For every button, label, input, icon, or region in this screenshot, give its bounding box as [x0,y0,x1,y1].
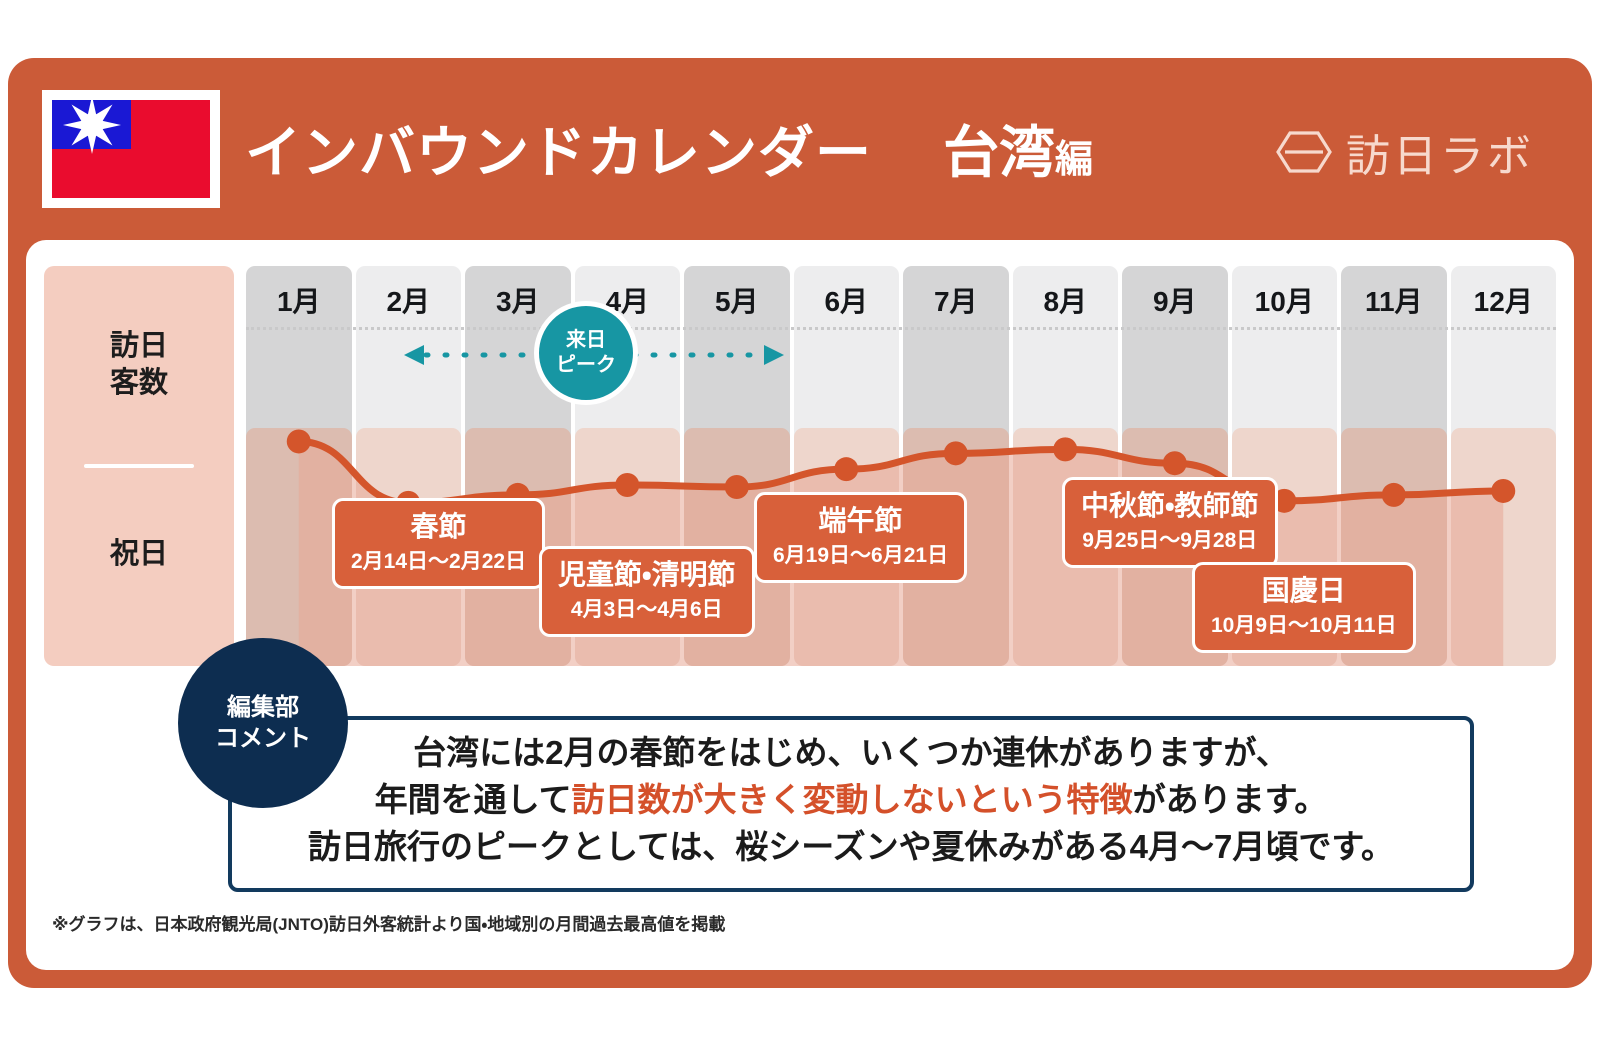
event-box-国慶日[interactable]: 国慶日 10月9日〜10月11日 [1192,562,1416,653]
peak-line2: ピーク [556,353,616,378]
month-label: 10月 [1232,280,1338,320]
month-column-12: 12月 [1451,266,1557,666]
event-box-児童節清明節[interactable]: 児童節・清明節 4月3日〜4月6日 [539,546,755,637]
editor-comment-text: 台湾には2月の春節をはじめ、いくつか連休がありますが、 年間を通して訪日数が大き… [236,730,1466,871]
comment-line-2: 年間を通して訪日数が大きく変動しないという特徴があります。 [236,777,1466,824]
event-date: 10月9日〜10月11日 [1211,613,1397,638]
brand-logo[interactable]: 訪日ラボ [1276,120,1534,184]
comment-line-1: 台湾には2月の春節をはじめ、いくつか連休がありますが、 [236,730,1466,777]
holiday-band [1451,428,1557,666]
axis-divider [84,464,194,468]
month-label: 12月 [1451,280,1557,320]
hexagon-logo-icon [1276,127,1332,177]
month-label: 9月 [1122,280,1228,320]
month-label: 11月 [1341,280,1447,320]
event-box-端午節[interactable]: 端午節 6月19日〜6月21日 [754,492,967,583]
month-label: 2月 [356,280,462,320]
event-box-春節[interactable]: 春節 2月14日〜2月22日 [332,498,545,589]
event-title: 国慶日 [1211,574,1397,608]
month-label: 7月 [903,280,1009,320]
month-column-8: 8月 [1013,266,1119,666]
editor-comment-badge: 編集部 コメント [178,638,348,808]
month-label: 1月 [246,280,352,320]
event-date: 6月19日〜6月21日 [773,543,948,568]
event-date: 2月14日〜2月22日 [351,549,526,574]
month-column-2: 2月 [356,266,462,666]
page-title: インバウンドカレンダー [245,108,872,189]
month-column-6: 6月 [794,266,900,666]
month-label: 5月 [684,280,790,320]
badge-line1: 編集部 [227,692,299,723]
event-title: 春節 [351,510,526,544]
event-box-中秋節教師節[interactable]: 中秋節・教師節 9月25日〜9月28日 [1062,477,1278,568]
header: インバウンドカレンダー 台湾編 訪日ラボ [8,58,1592,240]
arrow-right-icon [764,345,784,365]
country-name: 台湾 [943,121,1055,184]
infographic-frame: インバウンドカレンダー 台湾編 訪日ラボ 訪日 客数 祝日 [8,58,1592,988]
peak-badge: 来日 ピーク [534,301,638,405]
chart: 訪日 客数 祝日 1月2月3月4月5月6月7月8月9月10月11月12月 [44,266,1556,666]
source-footnote: ※グラフは、日本政府観光局(JNTO)訪日外客統計より国・地域別の月間過去最高値… [52,910,725,935]
event-date: 4月3日〜4月6日 [558,597,736,622]
event-title: 中秋節・教師節 [1081,489,1259,523]
brand-name: 訪日ラボ [1346,120,1534,184]
month-label: 8月 [1013,280,1119,320]
sun-emblem-icon [61,100,123,156]
event-title: 児童節・清明節 [558,558,736,592]
taiwan-flag-icon [42,90,220,208]
chart-legend-panel: 訪日 客数 祝日 [44,266,234,666]
event-date: 9月25日〜9月28日 [1081,528,1259,553]
country-title: 台湾編 [943,108,1093,189]
month-column-1: 1月 [246,266,352,666]
content-card: 訪日 客数 祝日 1月2月3月4月5月6月7月8月9月10月11月12月 [26,240,1574,970]
comment-highlight: 訪日数が大きく変動しないという特徴 [572,781,1133,818]
month-column-7: 7月 [903,266,1009,666]
badge-line2: コメント [215,723,311,754]
arrow-left-icon [404,345,424,365]
event-title: 端午節 [773,504,948,538]
peak-line1: 来日 [566,328,606,353]
comment-line-3: 訪日旅行のピークとしては、桜シーズンや夏休みがある4月〜7月頃です。 [236,824,1466,871]
month-label: 6月 [794,280,900,320]
chart-top-gridline [246,327,1556,330]
axis-label-visitors: 訪日 客数 [44,328,234,402]
country-suffix: 編 [1055,139,1093,181]
axis-label-holidays: 祝日 [44,536,234,573]
